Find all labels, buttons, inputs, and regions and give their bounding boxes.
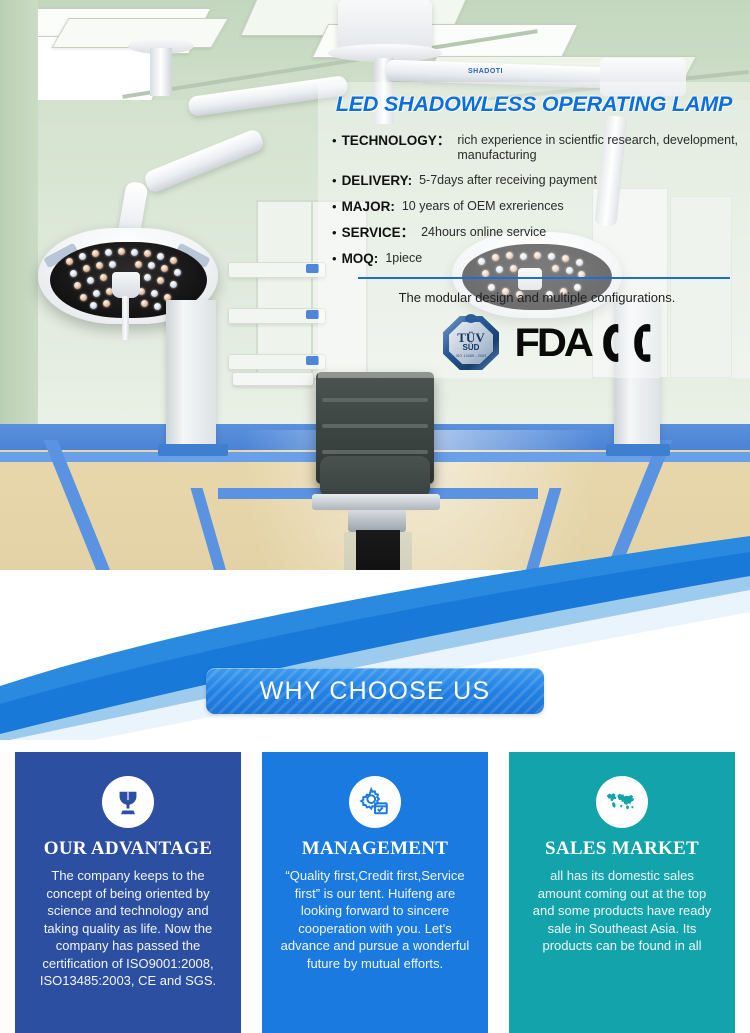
card-title: OUR ADVANTAGE <box>27 838 229 860</box>
bullet-icon: • <box>332 250 337 267</box>
lamp-hub <box>112 272 140 298</box>
card-title: SALES MARKET <box>521 838 723 860</box>
spec-value: 24hours online service <box>421 224 546 240</box>
spec-value: rich experience in scientfic research, d… <box>457 132 750 163</box>
spec-item-technology: • TECHNOLOGY： rich experience in scientf… <box>332 132 750 163</box>
left-wall <box>0 0 38 470</box>
why-choose-us-banner[interactable]: WHY CHOOSE US <box>206 668 544 714</box>
page-title: LED SHADOWLESS OPERATING LAMP <box>318 92 750 117</box>
why-choose-us-label: WHY CHOOSE US <box>260 677 490 706</box>
spec-label: MOQ: <box>342 250 379 267</box>
equipment-column-base <box>158 444 228 456</box>
bullet-icon: • <box>332 224 337 241</box>
trophy-icon <box>102 776 154 828</box>
spec-item-delivery: • DELIVERY: 5-7days after receiving paym… <box>332 172 750 189</box>
spec-label: DELIVERY: <box>342 172 413 189</box>
card-management[interactable]: MANAGEMENT “Quality first,Credit first,S… <box>262 752 488 1033</box>
spec-value: 1piece <box>385 250 422 266</box>
door-split-line <box>311 200 313 380</box>
spec-label: SERVICE： <box>342 224 415 241</box>
card-title: MANAGEMENT <box>274 838 476 860</box>
instrument-tray <box>232 372 314 386</box>
lamp-brand-label: SHADOTI <box>468 68 503 75</box>
spec-item-major: • MAJOR: 10 years of OEM exreriences <box>332 198 750 215</box>
world-map-icon <box>596 776 648 828</box>
spec-divider <box>358 277 730 279</box>
equipment-column <box>166 300 216 448</box>
product-banner-page: SHADOTI <box>0 0 750 1033</box>
spec-item-service: • SERVICE： 24hours online service <box>332 224 750 241</box>
gear-checklist-icon <box>349 776 401 828</box>
bullet-icon: • <box>332 198 337 215</box>
spec-item-moq: • MOQ: 1piece <box>332 250 750 267</box>
spec-value: 5-7days after receiving payment <box>419 172 597 188</box>
card-our-advantage[interactable]: OUR ADVANTAGE The company keeps to the c… <box>15 752 241 1033</box>
spec-value: 10 years of OEM exreriences <box>402 198 564 214</box>
spec-label: TECHNOLOGY： <box>342 132 451 149</box>
tuv-sud-icon: TÜV SÜD ISO 13485 : 2003 <box>440 314 502 372</box>
bullet-icon: • <box>332 132 337 149</box>
sud-label: SÜD <box>440 343 502 352</box>
card-body: “Quality first,Credit first,Service firs… <box>274 867 476 972</box>
fda-icon: FDA <box>515 321 591 366</box>
card-body: all has its domestic sales amount coming… <box>521 867 723 955</box>
hero-subtitle: The modular design and multiple configur… <box>332 290 742 305</box>
bullet-icon: • <box>332 172 337 189</box>
lamp-ceiling-mount <box>150 48 172 96</box>
tuv-micro-label: ISO 13485 : 2003 <box>440 354 502 358</box>
why-choose-us-section: WHY CHOOSE US <box>0 668 750 718</box>
card-sales-market[interactable]: SALES MARKET all has its domestic sales … <box>509 752 735 1033</box>
ce-mark-icon <box>603 324 660 362</box>
lamp-handle-stem <box>122 296 129 340</box>
card-body: The company keeps to the concept of bein… <box>27 867 229 990</box>
equipment-column-base <box>606 444 670 456</box>
spec-label: MAJOR: <box>342 198 395 215</box>
feature-cards: OUR ADVANTAGE The company keeps to the c… <box>0 752 750 1033</box>
spec-list: • TECHNOLOGY： rich experience in scientf… <box>332 132 750 276</box>
hero-section: SHADOTI <box>0 0 750 740</box>
certification-logos: TÜV SÜD ISO 13485 : 2003 FDA <box>440 312 680 374</box>
